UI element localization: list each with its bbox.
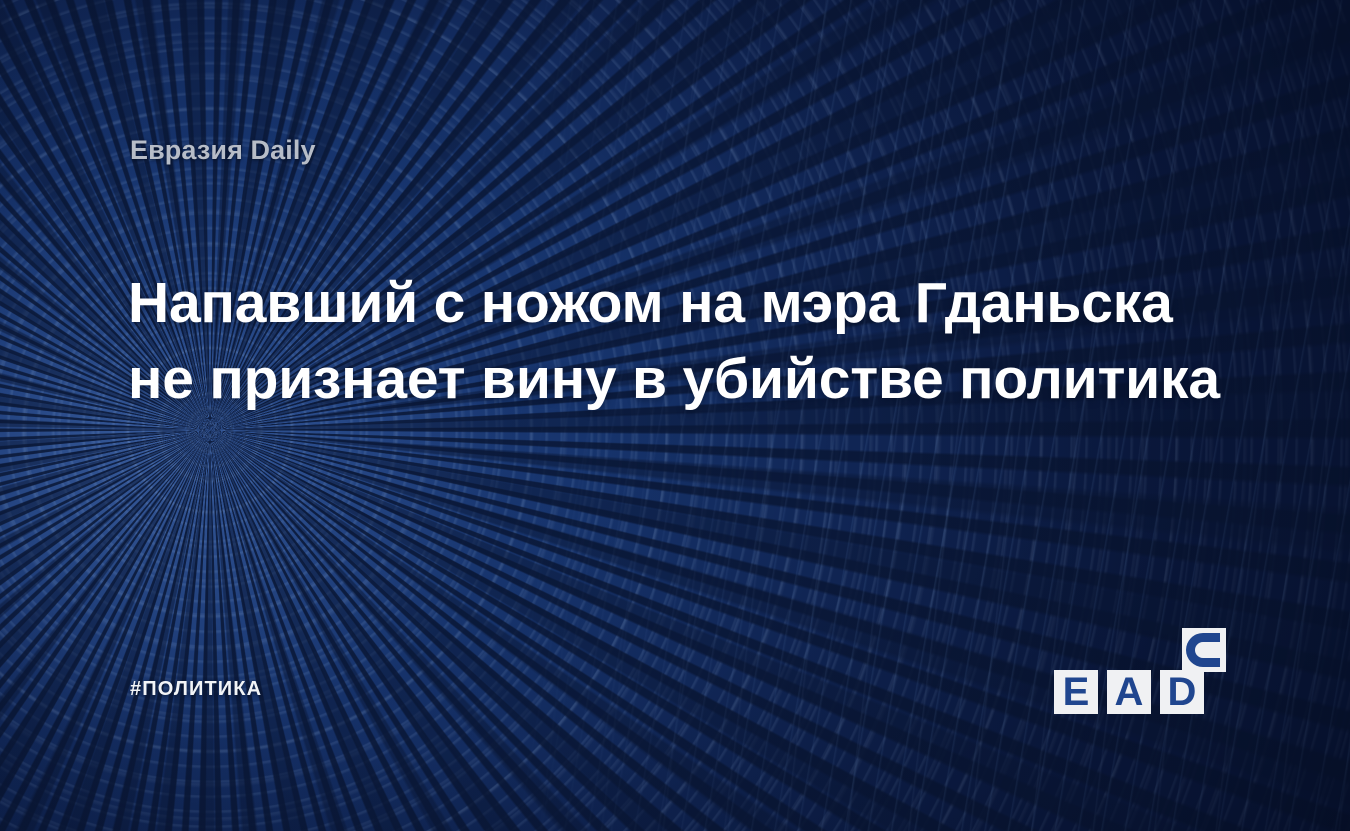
hashtag-politics[interactable]: #ПОЛИТИКА [130,678,262,701]
eadaily-logo[interactable]: E A D [1054,628,1226,714]
logo-tile-e: E [1054,670,1098,714]
headline-line-2: не признает вину в убийстве политика [128,341,1208,417]
logo-mark-icon [1182,628,1226,672]
logo-letter-e: E [1054,670,1098,714]
brand-name: Евразия Daily [130,135,316,166]
social-share-card: Евразия Daily Напавший с ножом на мэра Г… [0,0,1350,831]
mirrored-d-mark-icon [1186,633,1220,667]
logo-letter-a: A [1107,670,1151,714]
logo-letter-d: D [1160,670,1204,714]
headline: Напавший с ножом на мэра Гданьска не при… [128,265,1208,417]
logo-tile-d: D [1160,670,1204,714]
headline-line-1: Напавший с ножом на мэра Гданьска [128,265,1208,341]
logo-tile-a: A [1107,670,1151,714]
